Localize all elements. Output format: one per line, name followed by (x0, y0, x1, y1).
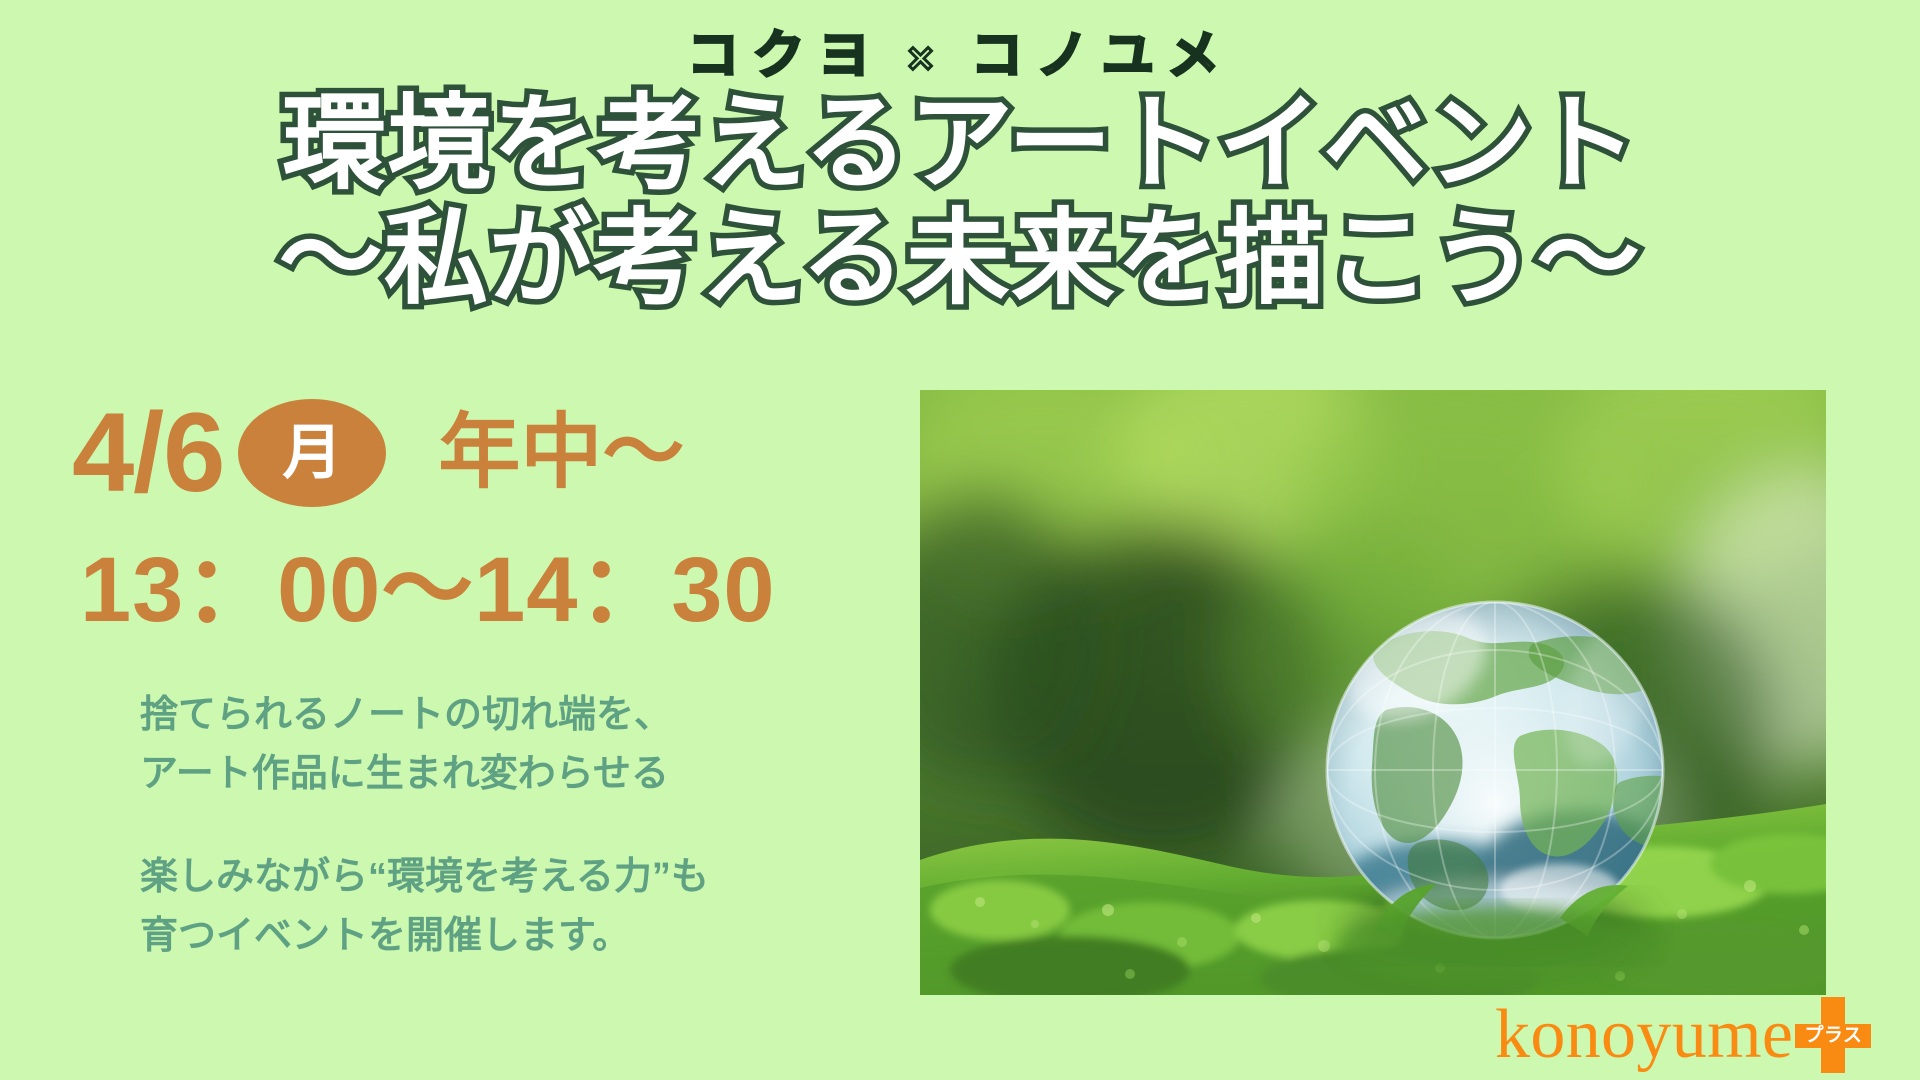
collab-brand-right: コノユメ (971, 27, 1233, 85)
event-date: 4/6 (72, 397, 224, 509)
logo-wordmark: konoyume (1495, 1000, 1793, 1070)
date-row: 4/6 月 年中〜 (0, 398, 900, 508)
description-paragraph-2: 楽しみながら“環境を考える力”も 育つイベントを開催します。 (140, 848, 900, 966)
event-title-line-1: 環境を考えるアートイベント (0, 90, 1920, 199)
event-photo (920, 390, 1826, 995)
event-description: 捨てられるノートの切れ端を、 アート作品に生まれ変わらせる 楽しみながら“環境を… (0, 686, 900, 966)
logo-plus-icon: プラス (1795, 997, 1871, 1073)
globe-on-moss-illustration (920, 390, 1826, 995)
collab-separator-icon: × (884, 37, 971, 81)
collaboration-line: コクヨ×コノユメ (0, 30, 1920, 82)
konoyume-logo[interactable]: konoyume プラス (1495, 995, 1871, 1075)
collab-brand-left: コクヨ (687, 27, 884, 85)
description-line: 育つイベントを開催します。 (140, 907, 900, 966)
event-flyer: コクヨ×コノユメ 環境を考えるアートイベント 〜私が考える未来を描こう〜 4/6… (0, 0, 1920, 1080)
event-time: 13：00〜14：30 (0, 544, 900, 636)
logo-plus-label: プラス (1795, 1021, 1871, 1051)
event-title-line-2: 〜私が考える未来を描こう〜 (0, 205, 1920, 314)
weekday-badge-label: 月 (282, 423, 342, 483)
weekday-badge: 月 (238, 399, 386, 507)
flyer-header: コクヨ×コノユメ 環境を考えるアートイベント 〜私が考える未来を描こう〜 (0, 0, 1920, 314)
age-range-label: 年中〜 (438, 412, 684, 494)
description-line: 捨てられるノートの切れ端を、 (140, 686, 900, 745)
description-line: アート作品に生まれ変わらせる (140, 745, 900, 804)
description-line: 楽しみながら“環境を考える力”も (140, 848, 900, 907)
event-details-column: 4/6 月 年中〜 13：00〜14：30 捨てられるノートの切れ端を、 アート… (0, 398, 900, 966)
description-paragraph-1: 捨てられるノートの切れ端を、 アート作品に生まれ変わらせる (140, 686, 900, 804)
